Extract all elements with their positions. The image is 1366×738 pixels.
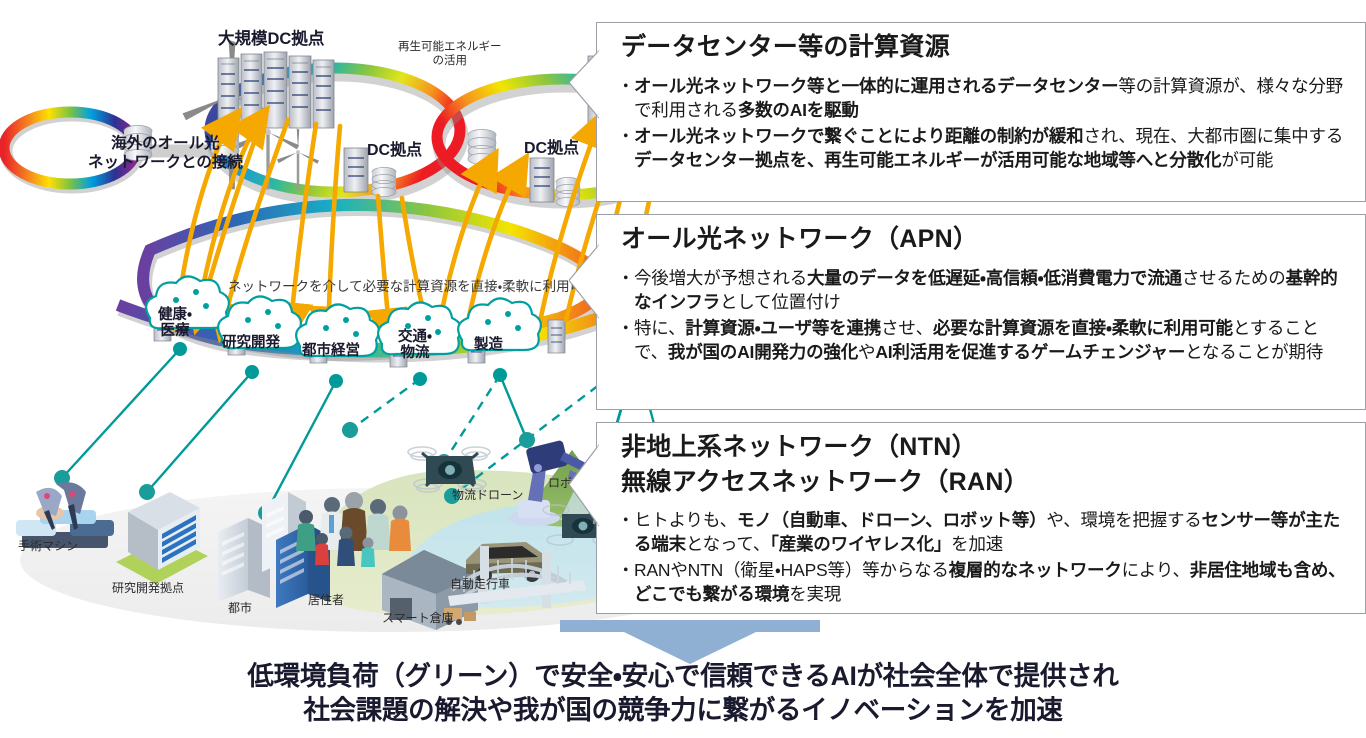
panel-title-datacenter: データセンター等の計算資源 <box>619 33 954 65</box>
overseas-optical-ring <box>4 112 138 187</box>
datacenter-node-center <box>344 148 368 192</box>
bullet-item: RANやNTN（衛星・HAPS等）等からなる複層的なネットワークにより、非居住地… <box>619 558 1351 606</box>
down-arrow <box>560 620 820 664</box>
panel-title-ran: 無線アクセスネットワーク（RAN） <box>619 468 1351 500</box>
banner-line-1: 低環境負荷（グリーン）で安全・安心で信頼できるAIが社会全体で提供され <box>0 660 1366 694</box>
down-arrow-shape <box>560 620 820 664</box>
bullet-item: ヒトよりも、モノ（自動車、ドローン、ロボット等）や、環境を把握するセンサー等が主… <box>619 508 1351 556</box>
datacenter-node-right <box>530 158 554 202</box>
cloud-city <box>296 304 379 356</box>
bottom-banner: 低環境負荷（グリーン）で安全・安心で信頼できるAIが社会全体で提供され 社会課題… <box>0 660 1366 728</box>
panel-bullets-datacenter: オール光ネットワーク等と一体的に運用されるデータセンター等の計算資源が、様々な分… <box>619 74 1351 173</box>
cloud-health <box>146 276 229 328</box>
diagram-page: 大規模DC拠点 大規模DC拠点 DC拠点 DC拠点 再生可能エネルギー の活用 … <box>0 0 1366 738</box>
bullet-item: 今後増大が予想される大量のデータを低遅延・高信頼・低消費電力で流通させるための基… <box>619 266 1351 314</box>
panel-apn: オール光ネットワーク（APN） 今後増大が予想される大量のデータを低遅延・高信頼… <box>596 214 1366 410</box>
banner-line-2: 社会課題の解決や我が国の競争力に繋がるイノベーションを加速 <box>0 694 1366 728</box>
cloud-logistics <box>378 302 461 354</box>
bullet-item: オール光ネットワーク等と一体的に運用されるデータセンター等の計算資源が、様々な分… <box>619 74 1351 122</box>
panel-bullets-apn: 今後増大が予想される大量のデータを低遅延・高信頼・低消費電力で流通させるための基… <box>619 266 1351 365</box>
panel-ntn-ran: 非地上系ネットワーク（NTN） 無線アクセスネットワーク（RAN） ヒトよりも、… <box>596 422 1366 614</box>
bullet-item: 特に、計算資源・ユーザ等を連携させ、必要な計算資源を直接・柔軟に利用可能とするこ… <box>619 316 1351 364</box>
bullet-item: オール光ネットワークで繋ぐことにより距離の制約が緩和され、現在、大都市圏に集中す… <box>619 124 1351 172</box>
panel-bullets-ntn-ran: ヒトよりも、モノ（自動車、ドローン、ロボット等）や、環境を把握するセンサー等が主… <box>619 508 1351 607</box>
surgery-machine-icon <box>16 482 114 548</box>
panel-datacenter: データセンター等の計算資源 オール光ネットワーク等と一体的に運用されるデータセン… <box>596 22 1366 202</box>
panel-title-ntn: 非地上系ネットワーク（NTN） <box>619 433 1351 465</box>
panel-title-apn: オール光ネットワーク（APN） <box>619 225 982 257</box>
